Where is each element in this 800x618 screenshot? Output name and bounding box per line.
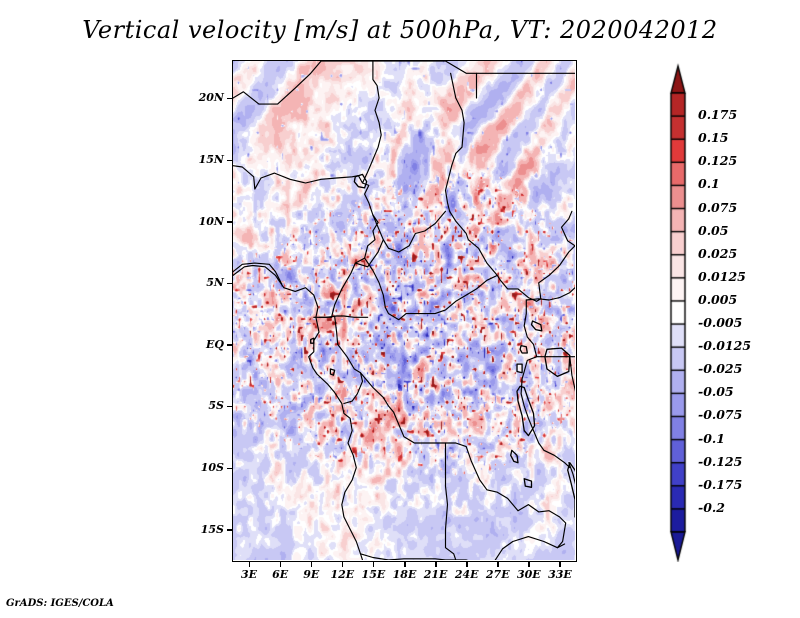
colorbar-tick-label: -0.025 xyxy=(698,361,742,376)
page-title: Vertical velocity [m/s] at 500hPa, VT: 2… xyxy=(0,16,800,44)
colorbar-tick-label: 0.125 xyxy=(698,153,737,168)
colorbar-tick-label: 0.15 xyxy=(698,130,728,145)
y-axis-label: EQ xyxy=(176,338,224,351)
lake-outline xyxy=(517,364,522,373)
country-border xyxy=(539,246,575,299)
colorbar-tick-label: -0.075 xyxy=(698,407,742,422)
country-border xyxy=(233,266,363,561)
country-border xyxy=(570,357,575,394)
y-axis-label: 5N xyxy=(176,276,224,289)
country-border xyxy=(335,316,363,404)
x-axis-tick xyxy=(466,562,468,567)
grads-credit: GrADS: IGES/COLA xyxy=(6,598,114,609)
y-axis-label: 10N xyxy=(176,215,224,228)
colorbar-tick-label: -0.05 xyxy=(698,384,734,399)
colorbar-tick-label: -0.1 xyxy=(698,431,725,446)
x-axis-tick xyxy=(373,562,375,567)
colorbar-tick-label: 0.075 xyxy=(698,200,737,215)
y-axis-tick xyxy=(227,344,232,346)
colorbar-tick-label: -0.125 xyxy=(698,454,742,469)
x-axis-tick xyxy=(435,562,437,567)
x-axis-tick xyxy=(404,562,406,567)
y-axis-label: 15S xyxy=(176,523,224,536)
country-border xyxy=(373,211,446,252)
x-axis-tick xyxy=(280,562,282,567)
y-axis-tick xyxy=(227,283,232,285)
colorbar-tick-label: 0.025 xyxy=(698,246,737,261)
country-border xyxy=(521,300,570,468)
x-axis-tick xyxy=(311,562,313,567)
y-axis-label: 10S xyxy=(176,461,224,474)
map-plot-area xyxy=(232,60,577,562)
colorbar-gradient xyxy=(668,62,698,562)
y-axis-label: 5S xyxy=(176,399,224,412)
colorbar-tick-label: 0.1 xyxy=(698,176,720,191)
colorbar-tick-label: -0.175 xyxy=(698,477,742,492)
lake-outline xyxy=(520,346,527,353)
country-border xyxy=(365,258,498,320)
country-border xyxy=(466,537,564,560)
lake-outline xyxy=(311,338,314,343)
x-axis-tick xyxy=(342,562,344,567)
country-border xyxy=(233,166,378,318)
grads-figure: Vertical velocity [m/s] at 500hPa, VT: 2… xyxy=(0,0,800,618)
country-border xyxy=(361,373,519,511)
lake-outline xyxy=(545,348,570,376)
colorbar-tick-label: 0.005 xyxy=(698,292,737,307)
x-axis-tick xyxy=(249,562,251,567)
y-axis-tick xyxy=(227,98,232,100)
colorbar-tick-label: -0.2 xyxy=(698,500,725,515)
colorbar-tick-label: 0.175 xyxy=(698,107,737,122)
colorbar-tick-label: -0.0125 xyxy=(698,338,751,353)
country-border xyxy=(446,73,541,301)
y-axis-tick xyxy=(227,406,232,408)
y-axis-tick xyxy=(227,221,232,223)
country-border xyxy=(526,288,575,300)
colorbar-tick-label: 0.0125 xyxy=(698,269,746,284)
y-axis-label: 15N xyxy=(176,153,224,166)
country-border xyxy=(373,61,477,98)
country-borders-overlay xyxy=(233,61,575,560)
y-axis-tick xyxy=(227,468,232,470)
x-axis-label: 33E xyxy=(540,568,580,581)
lake-outline xyxy=(354,174,366,188)
country-border xyxy=(363,61,382,183)
lake-outline xyxy=(532,321,542,331)
colorbar-tick-label: -0.005 xyxy=(698,315,742,330)
x-axis-tick xyxy=(559,562,561,567)
country-border xyxy=(233,61,321,104)
lake-outline xyxy=(330,369,334,375)
y-axis-tick xyxy=(227,529,232,531)
colorbar: 0.1750.150.1250.10.0750.050.0250.01250.0… xyxy=(660,58,800,563)
country-border xyxy=(562,211,576,246)
country-border xyxy=(446,443,456,560)
y-axis-label: 20N xyxy=(176,91,224,104)
lake-outline xyxy=(511,450,518,462)
x-axis-tick xyxy=(497,562,499,567)
country-border xyxy=(314,316,368,317)
y-axis-tick xyxy=(227,160,232,162)
country-border xyxy=(361,554,467,560)
lake-outline xyxy=(524,479,531,488)
colorbar-tick-label: 0.05 xyxy=(698,223,728,238)
x-axis-tick xyxy=(528,562,530,567)
